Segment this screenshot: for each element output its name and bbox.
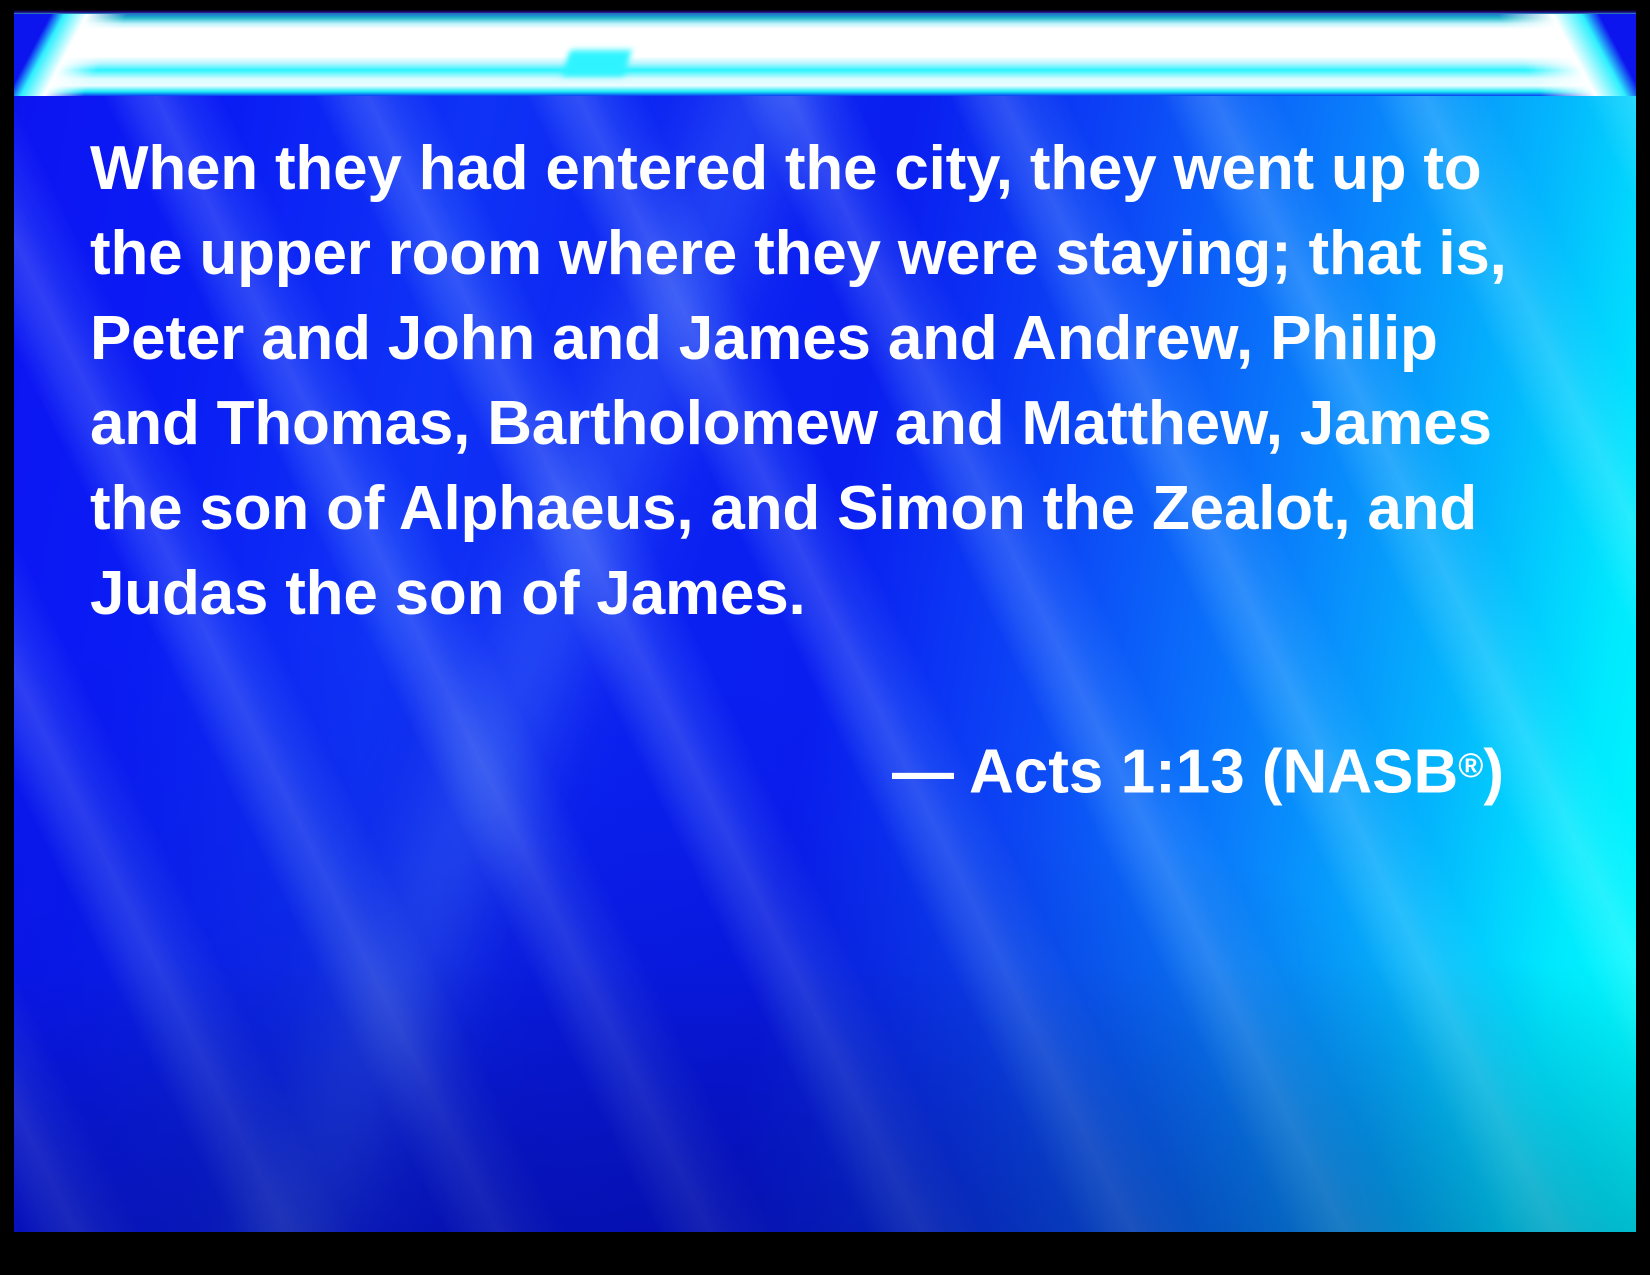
top-banner xyxy=(14,10,1636,96)
registered-trademark-icon: ® xyxy=(1458,747,1483,785)
attribution-suffix: ) xyxy=(1483,738,1504,807)
banner-top-rule xyxy=(14,10,1636,14)
banner-left-shoulder xyxy=(14,10,130,96)
banner-white-band xyxy=(14,10,1636,96)
verse-attribution: — Acts 1:13 (NASB®) xyxy=(90,724,1504,815)
banner-cyan-accent xyxy=(562,50,631,76)
banner-right-shoulder xyxy=(1490,10,1636,96)
verse-text: When they had entered the city, they wen… xyxy=(90,126,1510,636)
attribution-prefix: — Acts 1:13 (NASB xyxy=(892,738,1458,807)
slide-stage: When they had entered the city, they wen… xyxy=(14,10,1636,1232)
verse-slide: When they had entered the city, they wen… xyxy=(0,0,1650,1275)
